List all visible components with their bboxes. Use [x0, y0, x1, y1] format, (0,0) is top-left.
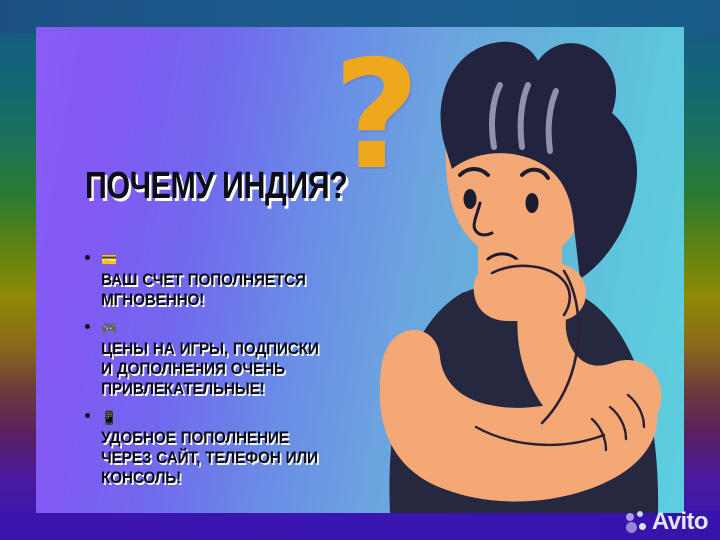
page-title: ПОЧЕМУ ИНДИЯ? [85, 167, 347, 205]
bullet-dot-icon [85, 255, 90, 260]
list-item: 🎮ЦЕНЫ НА ИГРЫ, ПОДПИСКИ И ДОПОЛНЕНИЯ ОЧЕ… [81, 318, 341, 399]
credit-card-emoji: 💳 [101, 252, 117, 267]
list-item: 📱УДОБНОЕ ПОПОЛНЕНИЕ ЧЕРЕЗ САЙТ, ТЕЛЕФОН … [81, 407, 341, 488]
benefit-text-1: ВАШ СЧЕТ ПОПОЛНЯЕТСЯ МГНОВЕННО! [101, 270, 324, 310]
bullet-dot-icon [85, 324, 90, 329]
bullet-dot-icon [85, 413, 90, 418]
benefit-text-2: ЦЕНЫ НА ИГРЫ, ПОДПИСКИ И ДОПОЛНЕНИЯ ОЧЕН… [101, 339, 324, 399]
poster-canvas: ? [0, 0, 720, 540]
thinking-man-illustration [366, 27, 684, 513]
avito-watermark: Avito [626, 510, 708, 534]
list-item: 💳ВАШ СЧЕТ ПОПОЛНЯЕТСЯ МГНОВЕННО! [81, 249, 341, 310]
benefits-list: 💳ВАШ СЧЕТ ПОПОЛНЯЕТСЯ МГНОВЕННО! 🎮ЦЕНЫ Н… [81, 249, 341, 496]
benefit-text-3: УДОБНОЕ ПОПОЛНЕНИЕ ЧЕРЕЗ САЙТ, ТЕЛЕФОН И… [101, 428, 324, 488]
promo-card: ? [36, 27, 684, 513]
frame-bottom-gradient [0, 510, 720, 540]
game-controller-emoji: 🎮 [101, 321, 117, 336]
mobile-phone-emoji: 📱 [101, 410, 117, 425]
avito-dots-icon [626, 511, 648, 533]
avito-wordmark: Avito [652, 510, 708, 534]
